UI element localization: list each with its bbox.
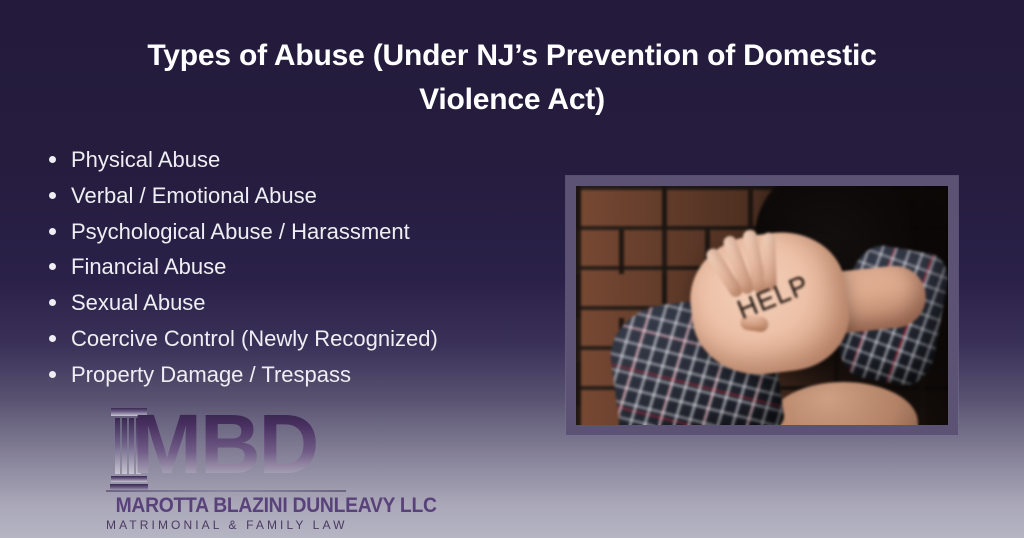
list-item-label: Financial Abuse xyxy=(71,254,226,279)
page-title-line-2: Violence Act) xyxy=(62,78,962,122)
list-item: Physical Abuse xyxy=(44,142,544,178)
list-item-label: Psychological Abuse / Harassment xyxy=(71,219,410,244)
logo-divider xyxy=(106,490,346,492)
bullet-dot-icon xyxy=(49,156,56,163)
logo-firm-name: MAROTTA BLAZINI DUNLEAVY LLC xyxy=(116,494,337,518)
list-item: Property Damage / Trespass xyxy=(44,357,544,393)
bullet-dot-icon xyxy=(49,371,56,378)
bullet-dot-icon xyxy=(49,192,56,199)
list-item-label: Physical Abuse xyxy=(71,147,220,172)
list-item: Sexual Abuse xyxy=(44,285,544,321)
bullet-dot-icon xyxy=(49,299,56,306)
abuse-types-list: Physical Abuse Verbal / Emotional Abuse … xyxy=(44,142,544,393)
list-item: Verbal / Emotional Abuse xyxy=(44,178,544,214)
list-item-label: Verbal / Emotional Abuse xyxy=(71,183,317,208)
photo-frame: HELP xyxy=(566,176,958,435)
list-item: Coercive Control (Newly Recognized) xyxy=(44,321,544,357)
firm-logo[interactable]: MBD MAROTTA BLAZINI DUNLEAVY LLC MATRIMO… xyxy=(104,400,349,532)
page-title: Types of Abuse (Under NJ’s Prevention of… xyxy=(62,34,962,122)
list-item-label: Sexual Abuse xyxy=(71,290,206,315)
page-title-line-1: Types of Abuse (Under NJ’s Prevention of… xyxy=(62,34,962,78)
bullet-dot-icon xyxy=(49,228,56,235)
list-item: Financial Abuse xyxy=(44,249,544,285)
bullet-dot-icon xyxy=(49,263,56,270)
help-hand-photo: HELP xyxy=(576,186,948,425)
logo-monogram: MBD xyxy=(132,400,317,488)
slide-canvas: Types of Abuse (Under NJ’s Prevention of… xyxy=(0,0,1024,538)
bullet-dot-icon xyxy=(49,335,56,342)
list-item: Psychological Abuse / Harassment xyxy=(44,214,544,250)
list-item-label: Coercive Control (Newly Recognized) xyxy=(71,326,438,351)
logo-tagline: MATRIMONIAL & FAMILY LAW xyxy=(106,518,346,532)
list-item-label: Property Damage / Trespass xyxy=(71,362,351,387)
